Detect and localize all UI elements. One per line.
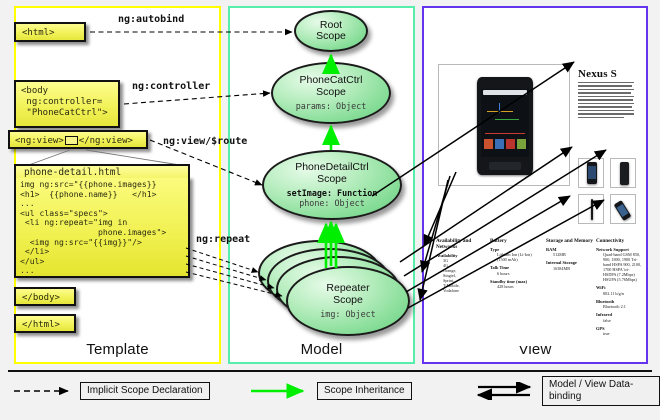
connector-label-view-route: ng:view/$route xyxy=(163,136,247,147)
code-box-ng-view: <ng:view></ng:view> xyxy=(8,130,148,149)
code-box-body-close: </body> xyxy=(14,287,76,306)
connector-label-autobind: ng:autobind xyxy=(118,14,184,25)
double-arrow-icon xyxy=(472,382,538,400)
scope-repeater-members: img: Object xyxy=(320,309,375,319)
legend-label-inheritance: Scope Inheritance xyxy=(317,382,412,400)
scope-repeater-label: RepeaterScope xyxy=(326,283,369,306)
thumbnail-4[interactable] xyxy=(610,194,636,224)
legend-label-databinding: Model / View Data-binding xyxy=(542,376,660,406)
legend: Implicit Scope Declaration Scope Inherit… xyxy=(0,368,660,420)
specs-group-storage: Storage and Memory RAM 512MB Internal St… xyxy=(546,238,596,271)
connector-label-repeat: ng:repeat xyxy=(196,234,250,245)
scope-repeater-stack: RepeaterScope img: Object xyxy=(258,240,410,340)
dashed-arrow-icon xyxy=(10,382,76,400)
legend-label-implicit: Implicit Scope Declaration xyxy=(80,382,210,400)
rendered-view-page: Nexus S Availability and xyxy=(432,16,638,346)
thumbnail-1[interactable] xyxy=(578,158,604,188)
view-body-copy xyxy=(578,82,634,120)
thumbnail-3[interactable] xyxy=(578,194,604,224)
scope-phonecatctrl-label: PhoneCatCtrlScope xyxy=(299,75,362,98)
view-heading: Nexus S xyxy=(578,68,617,80)
code-box-body-open: <body ng:controller= "PhoneCatCtrl"> xyxy=(14,80,120,128)
scope-phonedetailctrl-members: setImage: Function phone: Object xyxy=(287,188,378,208)
ng-view-open-tag: <ng:view> xyxy=(15,136,64,146)
specs-group-availability: Availability and Networks Availability 3… xyxy=(436,238,486,293)
legend-item-inheritance: Scope Inheritance xyxy=(247,382,412,400)
specs-group-battery: Battery Type Lithium Ion (Li-Ion) (1500 … xyxy=(490,238,542,289)
ng-view-close-tag: </ng:view> xyxy=(79,136,133,146)
hero-image-frame xyxy=(438,64,570,186)
scope-phonecatctrl: PhoneCatCtrlScope params: Object xyxy=(271,62,391,124)
legend-item-implicit: Implicit Scope Declaration xyxy=(10,382,210,400)
callout-code-block: img ng:src="{{phone.images}} <h1> {{phon… xyxy=(14,176,190,278)
callout-filename: phone-detail.html xyxy=(14,164,190,178)
scope-phonedetailctrl: PhoneDetailCtrlScope setImage: Function … xyxy=(262,150,402,220)
code-box-html-open: <html> xyxy=(14,22,86,42)
specs-group-connectivity: Connectivity Network Support Quad-band G… xyxy=(596,238,646,336)
scope-phonedetailctrl-label: PhoneDetailCtrlScope xyxy=(295,162,369,185)
specs-table: Availability and Networks Availability 3… xyxy=(436,238,636,330)
code-box-html-close: </html> xyxy=(14,314,76,333)
column-label-model: Model xyxy=(230,341,413,358)
diagram-canvas: Template Model View <html> <body ng:cont… xyxy=(0,0,660,420)
legend-divider xyxy=(8,370,652,372)
scope-repeater: RepeaterScope img: Object xyxy=(286,266,410,336)
scope-root-label: RootScope xyxy=(316,20,346,43)
scope-root: RootScope xyxy=(294,10,368,52)
thumbnail-2[interactable] xyxy=(610,158,636,188)
ng-view-slot-icon xyxy=(65,136,78,145)
scope-phonecatctrl-members: params: Object xyxy=(296,101,367,111)
connector-label-controller: ng:controller xyxy=(132,81,210,92)
phone-hero-image xyxy=(477,77,533,175)
green-arrow-icon xyxy=(247,382,313,400)
legend-item-databinding: Model / View Data-binding xyxy=(472,382,660,400)
column-label-template: Template xyxy=(16,341,219,358)
